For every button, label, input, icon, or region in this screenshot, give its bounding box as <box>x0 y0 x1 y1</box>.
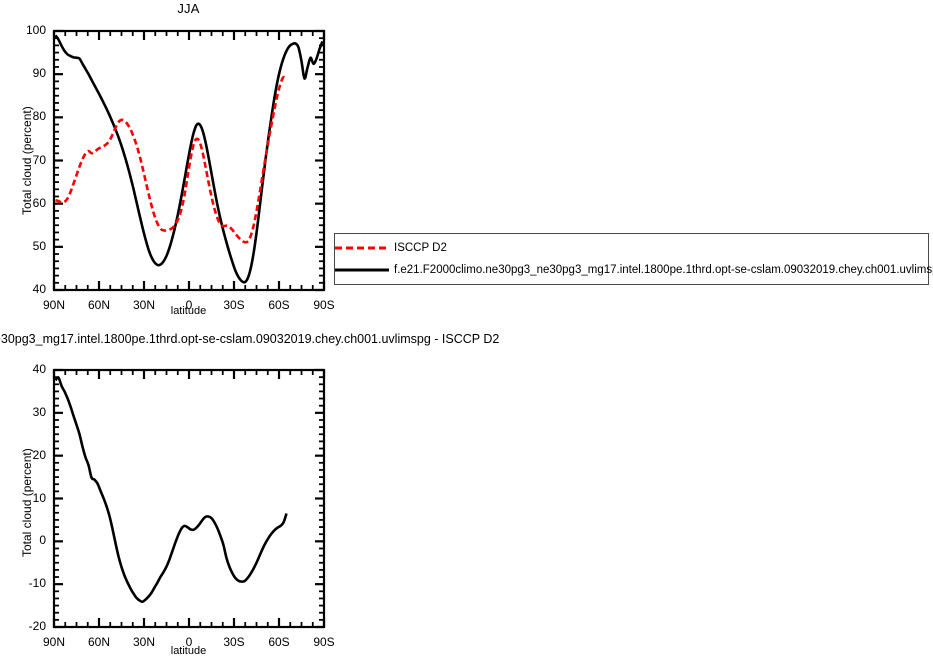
legend-swatch-solid-black <box>331 263 393 277</box>
line-chart-bottom <box>0 352 350 665</box>
y-tick-label: 0 <box>2 533 46 547</box>
y-tick-label: 30 <box>2 405 46 419</box>
x-tick-label: 90S <box>294 635 354 649</box>
difference-caption-text: f.e21.F2000climo.ne30pg3_ne30pg3_mg17.in… <box>0 332 499 346</box>
y-tick-label: 70 <box>2 153 46 167</box>
y-tick-label: 60 <box>2 196 46 210</box>
legend-label-model: f.e21.F2000climo.ne30pg3_ne30pg3_mg17.in… <box>394 264 933 276</box>
line-chart-top <box>0 0 350 325</box>
legend: ISCCP D2 f.e21.F2000climo.ne30pg3_ne30pg… <box>334 233 929 285</box>
y-tick-label: 100 <box>2 23 46 37</box>
x-tick-label: 90S <box>294 298 354 312</box>
chart-panel-bottom: Total cloud (percent) latitude 90N60N30N… <box>0 352 350 665</box>
y-tick-label: -10 <box>2 576 46 590</box>
series-line <box>56 378 287 602</box>
series-line <box>56 77 287 242</box>
y-tick-label: 20 <box>2 448 46 462</box>
y-tick-label: 80 <box>2 109 46 123</box>
y-tick-label: 40 <box>2 282 46 296</box>
y-tick-label: 50 <box>2 239 46 253</box>
y-tick-label: 90 <box>2 66 46 80</box>
page-title: JJA <box>53 1 324 16</box>
y-tick-label: 40 <box>2 362 46 376</box>
legend-item-isccp[interactable]: ISCCP D2 <box>335 237 447 259</box>
legend-swatch-dashed-red <box>331 241 393 255</box>
series-line <box>56 35 323 282</box>
chart-panel-top: JJA Total cloud (percent) latitude 90N60… <box>0 0 350 325</box>
difference-caption: f.e21.F2000climo.ne30pg3_ne30pg3_mg17.in… <box>0 332 933 350</box>
legend-item-model[interactable]: f.e21.F2000climo.ne30pg3_ne30pg3_mg17.in… <box>335 259 933 281</box>
legend-label-isccp: ISCCP D2 <box>394 242 447 254</box>
y-tick-label: 10 <box>2 491 46 505</box>
y-tick-label: -20 <box>2 619 46 633</box>
